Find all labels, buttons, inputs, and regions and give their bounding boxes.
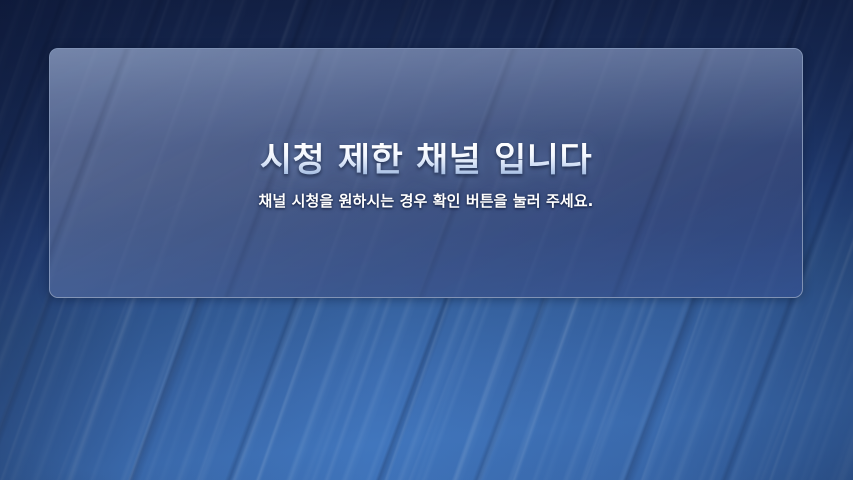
dialog-content: 시청 제한 채널 입니다 채널 시청을 원하시는 경우 확인 버튼을 눌러 주세… (50, 49, 802, 297)
dialog-subtitle: 채널 시청을 원하시는 경우 확인 버튼을 눌러 주세요. (259, 190, 594, 211)
dialog-title: 시청 제한 채널 입니다 (260, 143, 592, 179)
tv-osd-screen: 시청 제한 채널 입니다 채널 시청을 원하시는 경우 확인 버튼을 눌러 주세… (0, 0, 853, 480)
restricted-channel-dialog: 시청 제한 채널 입니다 채널 시청을 원하시는 경우 확인 버튼을 눌러 주세… (49, 48, 803, 298)
